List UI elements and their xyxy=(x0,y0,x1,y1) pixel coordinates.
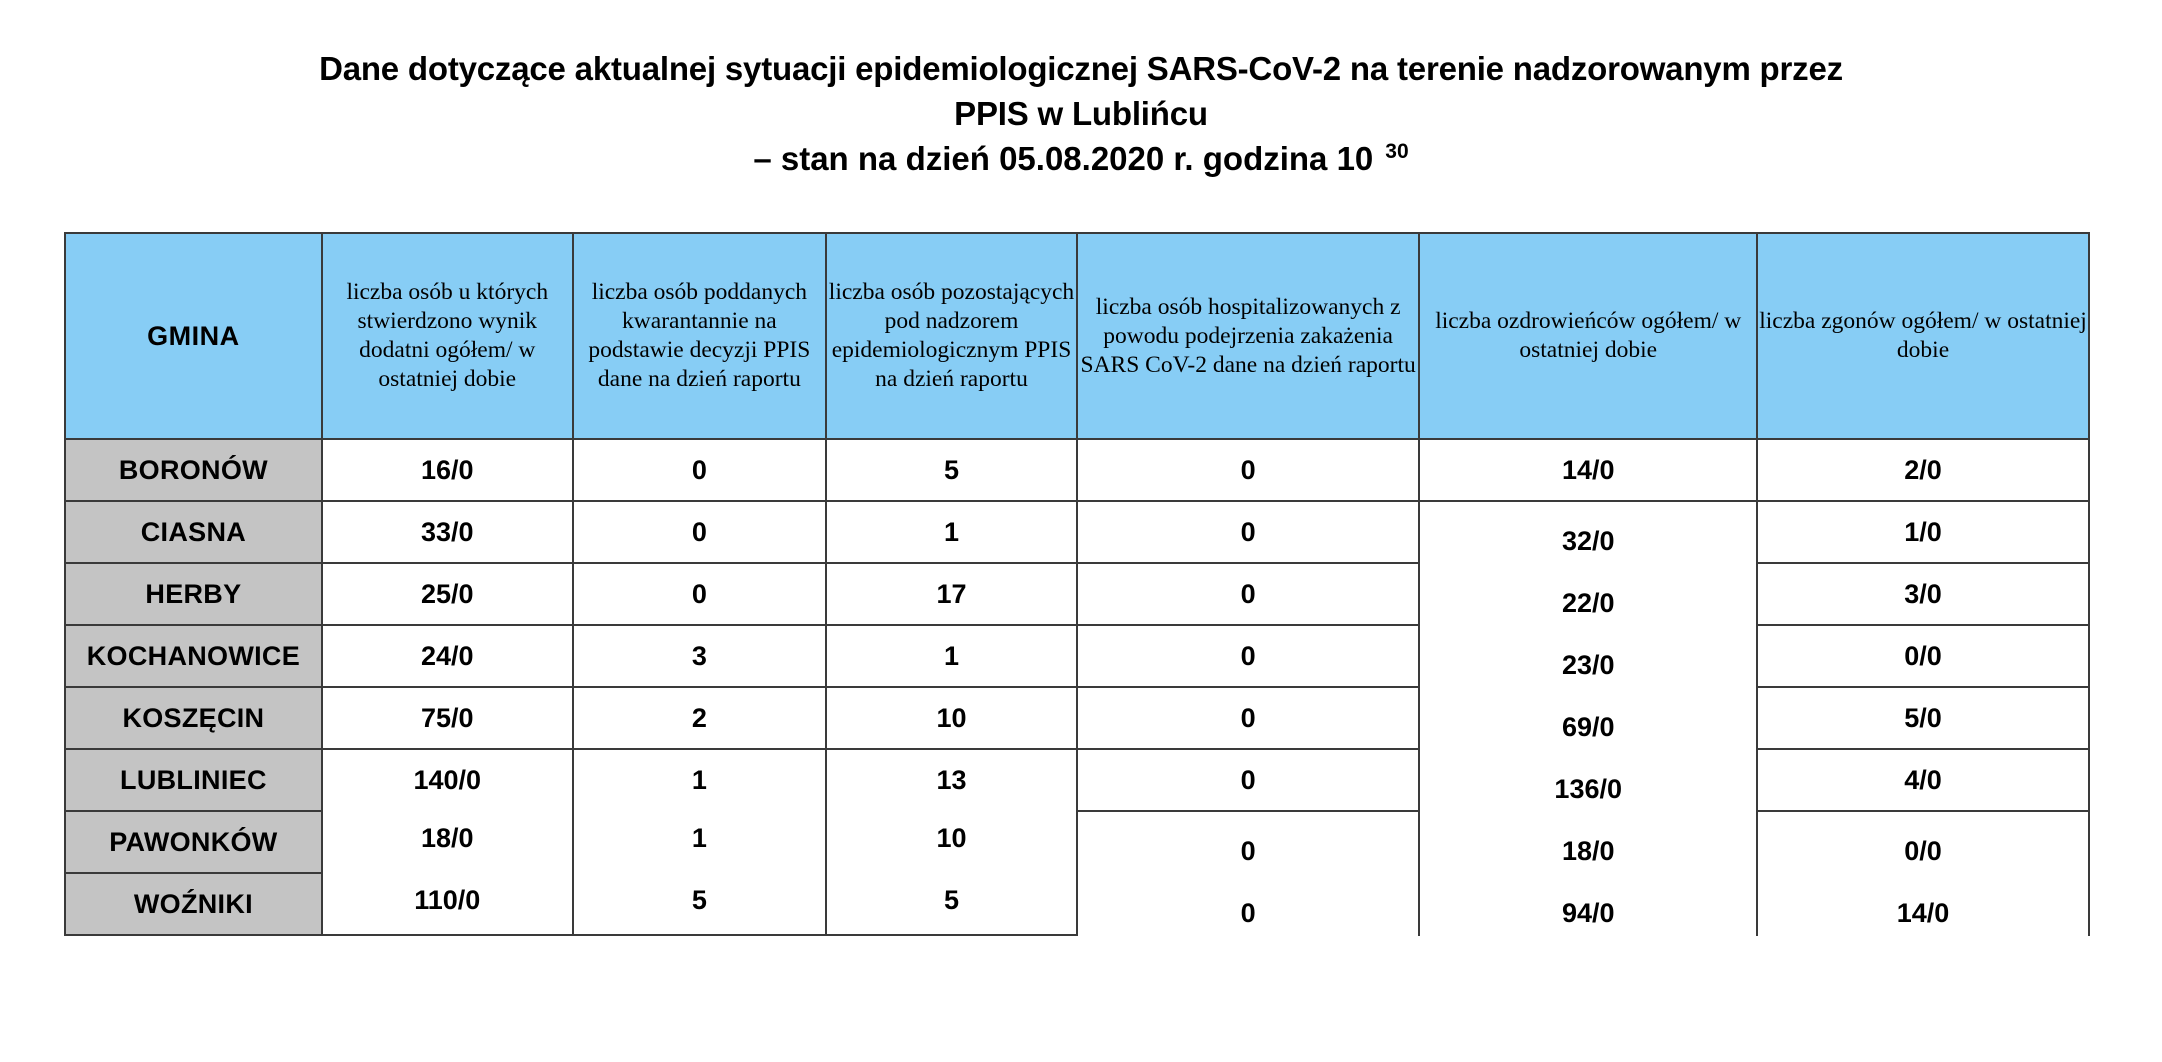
table-row: PAWONKÓW 18/0 1 10 0 18/0 0/0 xyxy=(65,811,2089,873)
cell-zgony: 0/0 xyxy=(1757,820,2089,882)
cell-hospitalizowani: 0 xyxy=(1077,882,1419,944)
cell-potwierdzone: 75/0 xyxy=(322,687,573,749)
cell-kwarantanna: 0 xyxy=(573,563,826,625)
cell-zgony: 5/0 xyxy=(1757,687,2089,749)
table-header: GMINA liczba osób u których stwierdzono … xyxy=(65,233,2089,439)
cell-potwierdzone: 25/0 xyxy=(322,563,573,625)
column-header-gmina: GMINA xyxy=(65,233,322,439)
cell-nadzor: 5 xyxy=(826,869,1077,931)
title-line-2: PPIS w Lublińcu xyxy=(0,91,2162,136)
cell-ozdrowiency: 69/0 xyxy=(1419,696,1757,758)
cell-zgony: 2/0 xyxy=(1757,439,2089,501)
table-row: WOŹNIKI 110/0 5 5 0 94/0 14/0 xyxy=(65,873,2089,935)
cell-nadzor: 17 xyxy=(826,563,1077,625)
cell-ozdrowiency: 94/0 xyxy=(1419,882,1757,944)
cell-nadzor: 13 xyxy=(826,749,1077,811)
table-row: HERBY 25/0 0 17 0 22/0 3/0 xyxy=(65,563,2089,625)
cell-kwarantanna: 3 xyxy=(573,625,826,687)
title-line-3: – stan na dzień 05.08.2020 r. godzina 10… xyxy=(0,136,2162,181)
cell-zgony: 4/0 xyxy=(1757,749,2089,811)
page-title: Dane dotyczące aktualnej sytuacji epidem… xyxy=(0,46,2162,181)
cell-ozdrowiency: 32/0 xyxy=(1419,510,1757,572)
title-date-time: – stan na dzień 05.08.2020 r. godzina 10 xyxy=(753,140,1373,177)
cell-nadzor: 1 xyxy=(826,625,1077,687)
cell-potwierdzone: 140/0 xyxy=(322,749,573,811)
cell-hospitalizowani: 0 xyxy=(1077,687,1419,749)
cell-potwierdzone: 18/0 xyxy=(322,807,573,869)
cell-gmina: PAWONKÓW xyxy=(65,811,322,873)
cell-ozdrowiency: 18/0 xyxy=(1419,820,1757,882)
cell-nadzor: 1 xyxy=(826,501,1077,563)
cell-gmina: LUBLINIEC xyxy=(65,749,322,811)
cell-kwarantanna: 1 xyxy=(573,749,826,811)
cell-zgony: 14/0 xyxy=(1757,882,2089,944)
cell-ozdrowiency: 14/0 xyxy=(1419,439,1757,501)
covid-statistics-table: GMINA liczba osób u których stwierdzono … xyxy=(64,232,2090,936)
column-header-zgony: liczba zgonów ogółem/ w ostatniej dobie xyxy=(1757,233,2089,439)
title-minutes-superscript: 30 xyxy=(1385,140,1408,163)
column-header-hospitalizowani: liczba osób hospitalizowanych z powodu p… xyxy=(1077,233,1419,439)
cell-nadzor: 5 xyxy=(826,439,1077,501)
covid-table-container: GMINA liczba osób u których stwierdzono … xyxy=(64,232,2090,936)
cell-gmina: WOŹNIKI xyxy=(65,873,322,935)
cell-nadzor: 10 xyxy=(826,687,1077,749)
cell-zgony: 1/0 xyxy=(1757,501,2089,563)
report-page: Dane dotyczące aktualnej sytuacji epidem… xyxy=(0,0,2162,1062)
cell-kwarantanna: 0 xyxy=(573,439,826,501)
title-line-1: Dane dotyczące aktualnej sytuacji epidem… xyxy=(0,46,2162,91)
cell-gmina: BORONÓW xyxy=(65,439,322,501)
cell-hospitalizowani: 0 xyxy=(1077,439,1419,501)
cell-hospitalizowani: 0 xyxy=(1077,820,1419,882)
cell-zgony: 3/0 xyxy=(1757,563,2089,625)
cell-potwierdzone: 33/0 xyxy=(322,501,573,563)
cell-zgony: 0/0 xyxy=(1757,625,2089,687)
column-header-kwarantanna: liczba osób poddanych kwarantannie na po… xyxy=(573,233,826,439)
cell-kwarantanna: 5 xyxy=(573,869,826,931)
cell-ozdrowiency: 136/0 xyxy=(1419,758,1757,820)
cell-potwierdzone: 16/0 xyxy=(322,439,573,501)
cell-hospitalizowani: 0 xyxy=(1077,749,1419,811)
cell-potwierdzone: 24/0 xyxy=(322,625,573,687)
cell-nadzor: 10 xyxy=(826,807,1077,869)
cell-gmina: CIASNA xyxy=(65,501,322,563)
cell-hospitalizowani: 0 xyxy=(1077,625,1419,687)
cell-hospitalizowani: 0 xyxy=(1077,563,1419,625)
cell-kwarantanna: 0 xyxy=(573,501,826,563)
table-row: LUBLINIEC 140/0 1 13 0 136/0 4/0 xyxy=(65,749,2089,811)
cell-kwarantanna: 2 xyxy=(573,687,826,749)
table-row: KOCHANOWICE 24/0 3 1 0 23/0 0/0 xyxy=(65,625,2089,687)
column-header-ozdrowiency: liczba ozdrowieńców ogółem/ w ostatniej … xyxy=(1419,233,1757,439)
cell-ozdrowiency: 22/0 xyxy=(1419,572,1757,634)
cell-hospitalizowani: 0 xyxy=(1077,501,1419,563)
table-row: BORONÓW 16/0 0 5 0 14/0 2/0 xyxy=(65,439,2089,501)
column-header-nadzor: liczba osób pozostających pod nadzorem e… xyxy=(826,233,1077,439)
table-row: KOSZĘCIN 75/0 2 10 0 69/0 5/0 xyxy=(65,687,2089,749)
cell-gmina: KOCHANOWICE xyxy=(65,625,322,687)
table-body: BORONÓW 16/0 0 5 0 14/0 2/0 CIASNA 33/0 … xyxy=(65,439,2089,935)
cell-potwierdzone: 110/0 xyxy=(322,869,573,931)
cell-gmina: KOSZĘCIN xyxy=(65,687,322,749)
column-header-potwierdzone: liczba osób u których stwierdzono wynik … xyxy=(322,233,573,439)
cell-ozdrowiency: 23/0 xyxy=(1419,634,1757,696)
table-row: CIASNA 33/0 0 1 0 32/0 1/0 xyxy=(65,501,2089,563)
cell-gmina: HERBY xyxy=(65,563,322,625)
header-row: GMINA liczba osób u których stwierdzono … xyxy=(65,233,2089,439)
cell-kwarantanna: 1 xyxy=(573,807,826,869)
